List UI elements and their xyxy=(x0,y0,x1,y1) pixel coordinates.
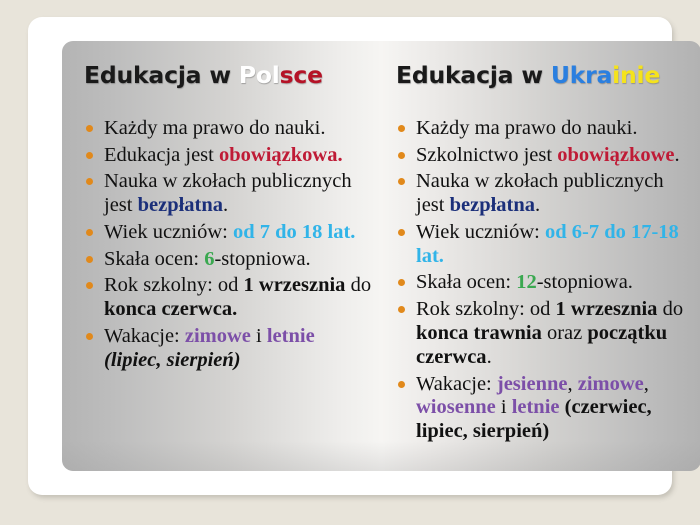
bullet-segment-1: 1 wrzesznia xyxy=(556,298,658,320)
bullet-bezplatna: Nauka w zkołach publicznych jest bezpłat… xyxy=(396,170,695,218)
bullet-rok-szkolny: Rok szkolny: od 1 wrzesznia do konca cze… xyxy=(84,274,376,322)
slide-background: Edukacja w Polsce Każdy ma prawo do nauk… xyxy=(0,0,700,525)
column-title-ukraine: Edukacja w Ukrainie xyxy=(396,63,695,89)
bullet-segment-6: . xyxy=(487,346,492,368)
bullet-segment-1: bezpłatna xyxy=(450,194,535,216)
bullet-segment-1: 1 wrzesznia xyxy=(244,274,346,296)
bullet-segment-1: od 7 do 18 lat. xyxy=(233,221,355,243)
bullet-segment-0: Wiek uczniów: xyxy=(416,221,545,243)
title-segment-1: Ukra xyxy=(551,61,612,89)
bullet-segment-2: -stopniowa. xyxy=(214,248,310,270)
bullet-segment-1: 6 xyxy=(204,248,214,270)
bullet-segment-5: (lipiec, sierpień) xyxy=(104,349,241,371)
bullet-segment-5: wiosenne xyxy=(416,396,496,418)
bullet-prawo-do-nauki: Każdy ma prawo do nauki. xyxy=(396,117,695,141)
bullet-segment-1: obowiązkowe xyxy=(557,144,674,166)
bullet-segment-3: konca czerwca. xyxy=(104,298,237,320)
bullet-segment-2: . xyxy=(223,194,228,216)
bullet-segment-0: Skała ocen: xyxy=(416,271,516,293)
two-column-layout: Edukacja w Polsce Każdy ma prawo do nauk… xyxy=(62,41,700,447)
bullet-segment-0: Szkolnictwo jest xyxy=(416,144,557,166)
bullet-segment-7: letnie xyxy=(512,396,560,418)
bullet-segment-0: Edukacja jest xyxy=(104,144,219,166)
bullet-segment-0: Wiek uczniów: xyxy=(104,221,233,243)
bullet-segment-2: -stopniowa. xyxy=(537,271,633,293)
bullet-segment-0: Rok szkolny: od xyxy=(104,274,244,296)
bullet-segment-2: do xyxy=(345,274,371,296)
bullet-bezplatna: Nauka w zkołach publicznych jest bezpłat… xyxy=(84,170,376,218)
bullet-wakacje: Wakacje: zimowe i letnie (lipiec, sierpi… xyxy=(84,325,376,373)
bullet-wiek-uczniow: Wiek uczniów: od 6-7 do 17-18 lat. xyxy=(396,221,695,269)
bullet-wakacje: Wakacje: jesienne, zimowe, wiosenne i le… xyxy=(396,373,695,444)
title-segment-2: inie xyxy=(612,61,660,89)
bullet-obowiazkowa: Edukacja jest obowiązkowa. xyxy=(84,144,376,168)
bullet-segment-0: Wakacje: xyxy=(416,373,497,395)
bullet-segment-0: Wakacje: xyxy=(104,325,185,347)
bullet-segment-1: bezpłatna xyxy=(138,194,223,216)
bullet-segment-2: do xyxy=(657,298,683,320)
bullet-obowiazkowe: Szkolnictwo jest obowiązkowe. xyxy=(396,144,695,168)
slide-card: Edukacja w Polsce Każdy ma prawo do nauk… xyxy=(28,17,672,495)
bullet-segment-6: i xyxy=(496,396,512,418)
bullet-segment-0: Rok szkolny: od xyxy=(416,298,556,320)
bullet-segment-1: zimowe xyxy=(185,325,251,347)
bullet-skala-ocen: Skała ocen: 12-stopniowa. xyxy=(396,271,695,295)
bullet-segment-1: jesienne xyxy=(497,373,568,395)
bullet-segment-2: . xyxy=(535,194,540,216)
content-panel: Edukacja w Polsce Każdy ma prawo do nauk… xyxy=(62,41,700,471)
bullet-skala-ocen: Skała ocen: 6-stopniowa. xyxy=(84,248,376,272)
bullet-segment-0: Skała ocen: xyxy=(104,248,204,270)
bullet-segment-0: Każdy ma prawo do nauki. xyxy=(104,117,325,139)
bullet-segment-4: oraz xyxy=(542,322,588,344)
title-segment-1: Pol xyxy=(239,61,280,89)
column-poland: Edukacja w Polsce Każdy ma prawo do nauk… xyxy=(62,41,384,447)
bullet-rok-szkolny: Rok szkolny: od 1 wrzesznia do konca tra… xyxy=(396,298,695,369)
bullet-segment-1: obowiązkowa. xyxy=(219,144,343,166)
bullet-prawo-do-nauki: Każdy ma prawo do nauki. xyxy=(84,117,376,141)
bullet-segment-2: , xyxy=(567,373,577,395)
bullet-wiek-uczniow: Wiek uczniów: od 7 do 18 lat. xyxy=(84,221,376,245)
bullet-segment-0: Każdy ma prawo do nauki. xyxy=(416,117,637,139)
bullet-list-poland: Każdy ma prawo do nauki.Edukacja jest ob… xyxy=(84,117,376,373)
bullet-segment-3: letnie xyxy=(267,325,315,347)
bullet-segment-2: i xyxy=(251,325,267,347)
title-segment-2: sce xyxy=(280,61,323,89)
column-ukraine: Edukacja w Ukrainie Każdy ma prawo do na… xyxy=(384,41,700,447)
bullet-segment-3: konca trawnia xyxy=(416,322,542,344)
title-segment-0: Edukacja w xyxy=(84,61,239,89)
bullet-segment-3: zimowe xyxy=(578,373,644,395)
bullet-segment-2: . xyxy=(675,144,680,166)
bullet-segment-1: 12 xyxy=(516,271,537,293)
column-title-poland: Edukacja w Polsce xyxy=(84,63,376,89)
title-segment-0: Edukacja w xyxy=(396,61,551,89)
bullet-segment-4: , xyxy=(644,373,649,395)
bullet-list-ukraine: Każdy ma prawo do nauki.Szkolnictwo jest… xyxy=(396,117,695,444)
